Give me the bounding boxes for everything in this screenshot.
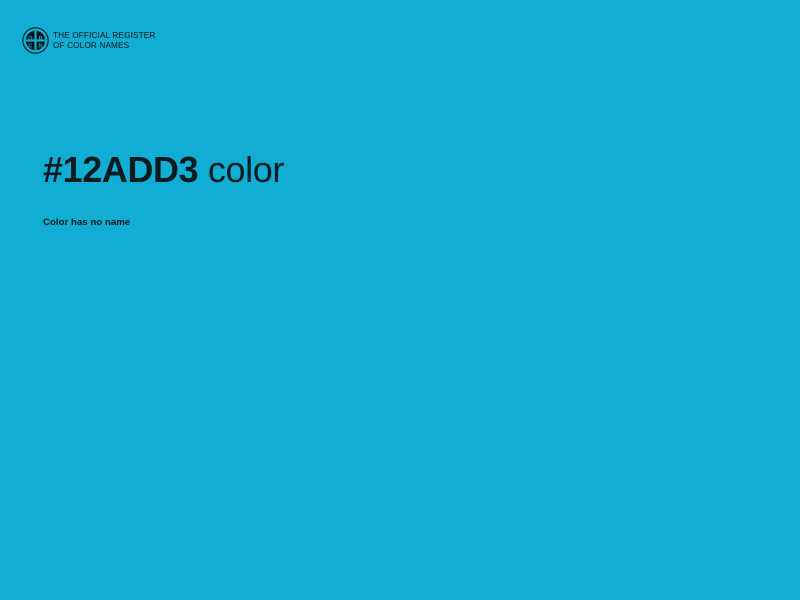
brand-line-1: THE OFFICIAL REGISTER [53,31,155,41]
main-content: #12ADD3 color Color has no name [43,124,743,229]
color-name-status: Color has no name [43,216,743,229]
brand-wordmark: THE OFFICIAL REGISTER OF COLOR NAMES [53,31,155,50]
page-title: #12ADD3 color [43,148,743,192]
svg-text:N: N [39,43,43,49]
color-title-suffix: color [198,149,284,190]
official-register-seal-icon: O R C N [22,27,49,54]
brand-lockup[interactable]: O R C N THE OFFICIAL REGISTER OF COLOR N… [22,27,155,54]
color-page: O R C N THE OFFICIAL REGISTER OF COLOR N… [0,0,800,600]
svg-text:C: C [28,43,32,49]
brand-line-2: OF COLOR NAMES [53,41,155,51]
color-hex-value: #12ADD3 [43,149,198,190]
svg-text:R: R [39,36,43,42]
svg-text:O: O [28,36,32,42]
